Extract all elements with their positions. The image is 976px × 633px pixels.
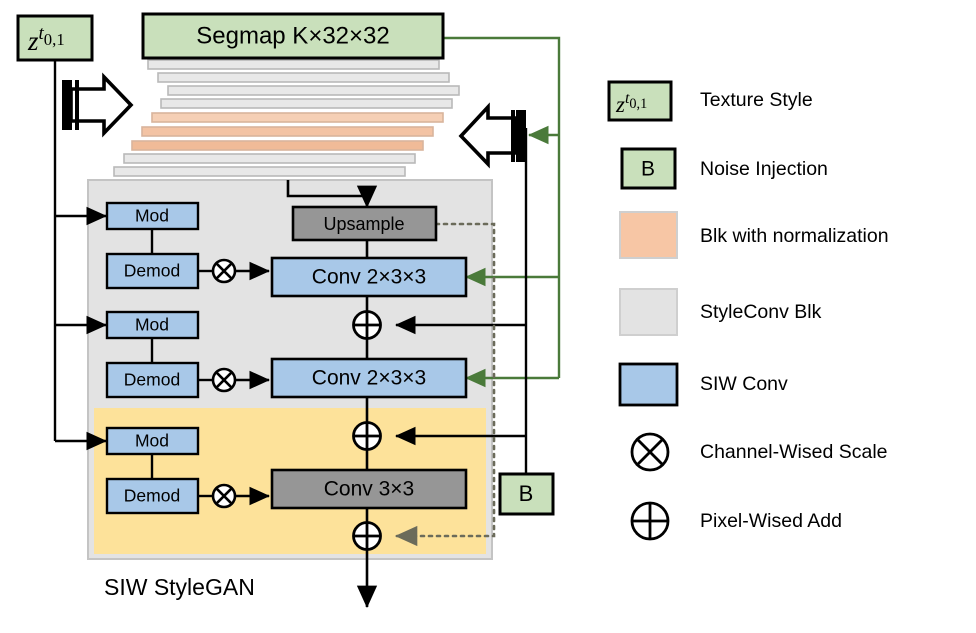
conv-block-3[interactable]: Conv 3×3 bbox=[272, 470, 466, 508]
legend-label-pixel-wised-add: Pixel-Wised Add bbox=[700, 510, 842, 532]
legend-label-siw-conv: SIW Conv bbox=[700, 373, 788, 395]
segmap-box-label: Segmap K×32×32 bbox=[196, 22, 390, 49]
legend-swatch-siw-conv bbox=[620, 364, 677, 405]
upsample-block-label: Upsample bbox=[323, 214, 404, 234]
upsample-block[interactable]: Upsample bbox=[293, 207, 436, 240]
legend-swatch-b-label: B bbox=[641, 158, 655, 181]
style-inject-arrow-right-icon bbox=[62, 77, 131, 133]
legend-label-blk-normalization: Blk with normalization bbox=[700, 225, 889, 247]
legend-swatch-oplus-icon bbox=[632, 503, 668, 539]
stack-bar bbox=[148, 60, 439, 69]
legend-item-pixel-wised-add: Pixel-Wised Add bbox=[632, 503, 842, 539]
segmap-inject-arrow-left-icon bbox=[461, 107, 526, 164]
demod-block-2-label: Demod bbox=[124, 370, 180, 390]
segmap-box[interactable]: Segmap K×32×32 bbox=[143, 14, 443, 58]
noise-injection-box[interactable]: B bbox=[500, 474, 553, 514]
legend: zt0,1 Texture Style B Noise Injection Bl… bbox=[609, 82, 889, 539]
conv-block-1[interactable]: Conv 2×3×3 bbox=[272, 258, 466, 296]
stack-bar bbox=[161, 99, 452, 108]
mod-block-2[interactable]: Mod bbox=[107, 312, 198, 338]
mod-block-1[interactable]: Mod bbox=[107, 203, 198, 229]
legend-swatch-otimes-icon bbox=[632, 434, 668, 470]
legend-item-noise-injection: B Noise Injection bbox=[622, 149, 828, 188]
legend-label-styleconv-blk: StyleConv Blk bbox=[700, 301, 822, 323]
legend-swatch-styleconv-blk bbox=[620, 289, 677, 335]
texture-style-box[interactable]: zt0,1 bbox=[18, 16, 92, 60]
legend-label-noise-injection: Noise Injection bbox=[700, 158, 828, 180]
demod-block-3[interactable]: Demod bbox=[107, 479, 198, 513]
stack-bar bbox=[142, 127, 433, 136]
mod-block-3-label: Mod bbox=[135, 431, 169, 451]
legend-item-blk-normalization: Blk with normalization bbox=[620, 212, 889, 258]
legend-item-channel-wised-scale: Channel-Wised Scale bbox=[632, 434, 888, 470]
diagram-caption: SIW StyleGAN bbox=[104, 574, 255, 600]
conv-block-3-label: Conv 3×3 bbox=[324, 478, 414, 501]
feature-map-stack bbox=[114, 60, 459, 176]
stack-bar bbox=[114, 167, 405, 176]
mod-block-2-label: Mod bbox=[135, 315, 169, 335]
pixel-wised-add-1 bbox=[354, 312, 381, 339]
legend-item-siw-conv: SIW Conv bbox=[620, 364, 788, 405]
legend-item-styleconv-blk: StyleConv Blk bbox=[620, 289, 822, 335]
noise-injection-box-label: B bbox=[519, 481, 534, 506]
channel-wised-scale-2 bbox=[213, 369, 235, 391]
channel-wised-scale-3 bbox=[213, 485, 235, 507]
demod-block-1[interactable]: Demod bbox=[107, 254, 198, 288]
diagram-root: Mod Demod Mod Demod Mod Demod Upsample bbox=[0, 0, 976, 633]
conv-block-2-label: Conv 2×3×3 bbox=[312, 367, 426, 390]
stack-bar bbox=[158, 73, 449, 82]
stack-bar bbox=[168, 86, 459, 95]
demod-block-3-label: Demod bbox=[124, 486, 180, 506]
stack-bar bbox=[124, 154, 415, 163]
pixel-wised-add-3 bbox=[354, 523, 381, 550]
stack-bar bbox=[132, 141, 423, 150]
conv-block-2[interactable]: Conv 2×3×3 bbox=[272, 359, 466, 397]
mod-block-1-label: Mod bbox=[135, 206, 169, 226]
diagram-canvas: Mod Demod Mod Demod Mod Demod Upsample bbox=[0, 0, 976, 633]
mod-block-3[interactable]: Mod bbox=[107, 428, 198, 454]
legend-label-channel-wised-scale: Channel-Wised Scale bbox=[700, 441, 888, 463]
legend-swatch-blk-normalization bbox=[620, 212, 677, 258]
demod-block-2[interactable]: Demod bbox=[107, 363, 198, 397]
legend-label-texture-style: Texture Style bbox=[700, 89, 813, 111]
pixel-wised-add-2 bbox=[354, 423, 381, 450]
demod-block-1-label: Demod bbox=[124, 261, 180, 281]
conv-block-1-label: Conv 2×3×3 bbox=[312, 266, 426, 289]
stack-bar bbox=[152, 113, 443, 122]
legend-item-texture-style: zt0,1 Texture Style bbox=[609, 82, 813, 120]
channel-wised-scale-1 bbox=[213, 260, 235, 282]
